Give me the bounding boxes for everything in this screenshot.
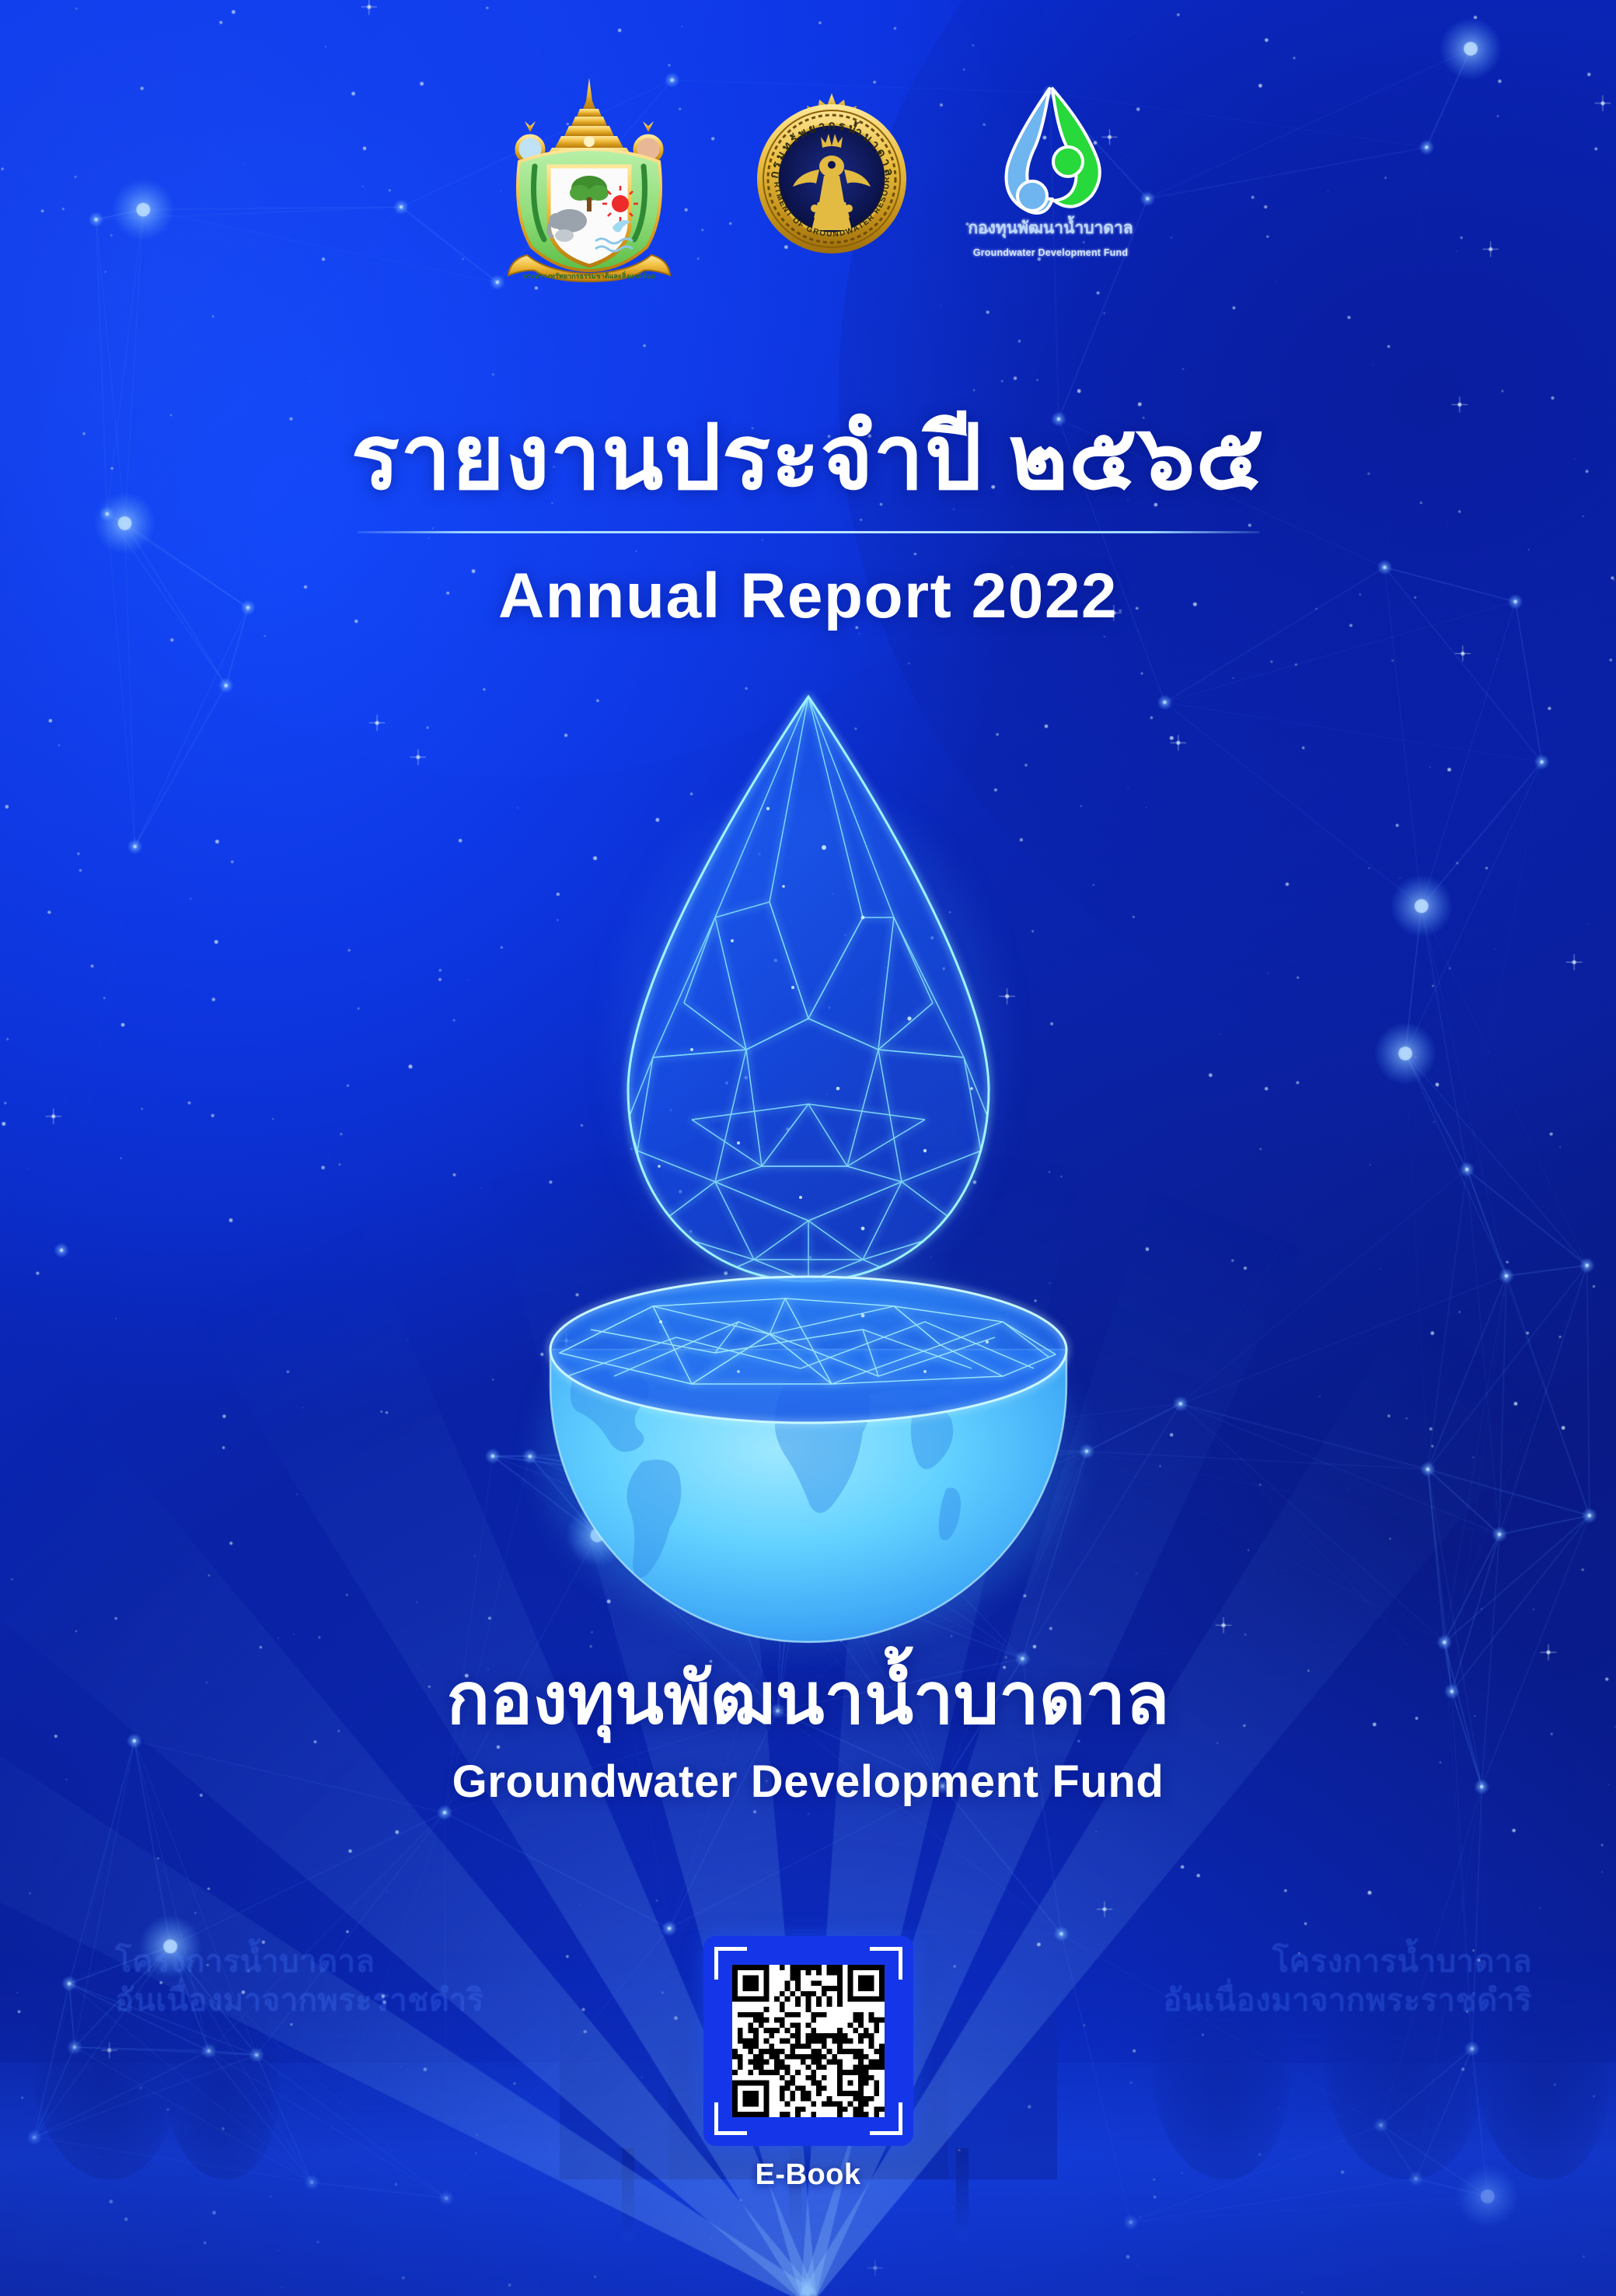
ministry-emblem-icon: กระทรวงทรัพยากรธรรมชาติและสิ่งแวดล้อม — [496, 75, 682, 283]
qr-code-icon[interactable] — [732, 1965, 885, 2117]
title-block: รายงานประจำปี ๒๕๖๕ Annual Report 2022 — [0, 404, 1616, 633]
organization-name-block: กองทุนพัฒนาน้ำบาดาล Groundwater Developm… — [0, 1656, 1616, 1808]
droplet-globe-illustration — [459, 684, 1158, 1664]
svg-text:กระทรวงทรัพยากรธรรมชาติและสิ่ง: กระทรวงทรัพยากรธรรมชาติและสิ่งแวดล้อม — [522, 271, 654, 280]
qr-corner-top-right-icon — [870, 1947, 902, 1980]
logo-groundwater-development-fund: กองทุนพัฒนาน้ำบาดาล Groundwater Developm… — [981, 82, 1121, 261]
logo-ministry-of-natural-resources: กระทรวงทรัพยากรธรรมชาติและสิ่งแวดล้อม — [496, 75, 682, 287]
dgr-seal-icon: กรมทรัพยากรน้ำบาดาล DEPARTMENT OF GROUND… — [749, 92, 914, 257]
logo-row: กระทรวงทรัพยากรธรรมชาติและสิ่งแวดล้อม — [0, 75, 1616, 287]
photo-post — [956, 2148, 969, 2242]
organization-name-thai: กองทุนพัฒนาน้ำบาดาล — [0, 1656, 1616, 1742]
qr-corner-bottom-left-icon — [714, 2102, 747, 2135]
title-divider — [358, 531, 1259, 533]
logo-department-of-groundwater-resources: กรมทรัพยากรน้ำบาดาล DEPARTMENT OF GROUND… — [749, 75, 914, 260]
fund-logo-thai-caption: กองทุนพัฒนาน้ำบาดาล — [968, 215, 1133, 241]
qr-corner-bottom-right-icon — [870, 2102, 902, 2135]
page-title-english: Annual Report 2022 — [0, 560, 1616, 633]
qr-corner-top-left-icon — [714, 1947, 747, 1980]
watermark-text-right: โครงการน้ำบาดาล อันเนื่องมาจากพระราชดำริ — [1163, 1942, 1532, 2020]
watermark-text-left: โครงการน้ำบาดาล อันเนื่องมาจากพระราชดำริ — [115, 1942, 484, 2020]
fund-logo-english-caption: Groundwater Development Fund — [973, 247, 1128, 258]
photo-post — [622, 2148, 634, 2242]
qr-label: E-Book — [703, 2158, 913, 2192]
organization-name-english: Groundwater Development Fund — [0, 1756, 1616, 1808]
ebook-qr-block[interactable]: E-Book — [703, 1936, 913, 2192]
water-drop-fund-icon — [981, 82, 1121, 222]
qr-frame[interactable] — [703, 1936, 913, 2146]
report-cover: โครงการน้ำบาดาล อันเนื่องมาจากพระราชดำริ… — [0, 0, 1616, 2296]
page-title-thai: รายงานประจำปี ๒๕๖๕ — [0, 404, 1616, 511]
